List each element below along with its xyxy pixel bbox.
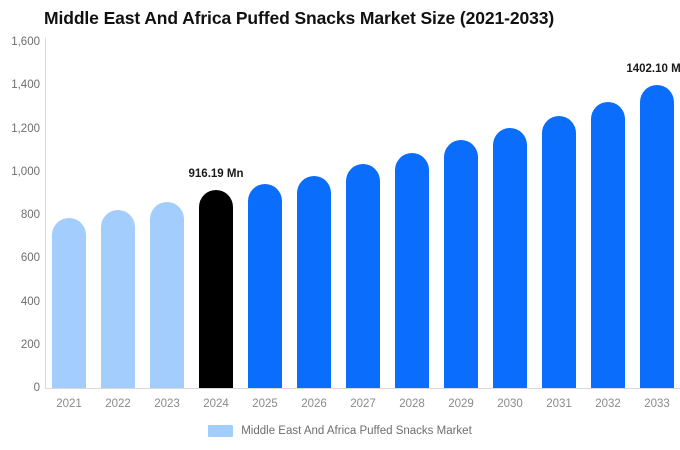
bar-chart: Middle East And Africa Puffed Snacks Mar…: [0, 0, 680, 450]
x-axis-tick-label: 2025: [252, 398, 278, 410]
y-axis: 1,6001,4001,2001,0008006004002000: [0, 0, 40, 450]
bar-column[interactable]: [493, 42, 527, 388]
x-axis-tick-label: 2030: [497, 398, 523, 410]
bar-column[interactable]: [52, 42, 86, 388]
plot-area: [45, 42, 680, 388]
bar-value-label: 916.19 Mn: [189, 168, 244, 180]
x-axis-tick-label: 2033: [644, 398, 670, 410]
chart-title: Middle East And Africa Puffed Snacks Mar…: [44, 8, 554, 29]
y-axis-tick-label: 1,600: [0, 36, 40, 48]
y-axis-tick-label: 1,200: [0, 123, 40, 135]
x-axis-tick-label: 2029: [448, 398, 474, 410]
y-axis-tick-label: 400: [0, 296, 40, 308]
y-axis-tick-label: 0: [0, 382, 40, 394]
bar-2025[interactable]: [248, 184, 282, 388]
bar-2033[interactable]: [640, 85, 674, 388]
y-axis-tick-label: 1,400: [0, 79, 40, 91]
bar-column[interactable]: [150, 42, 184, 388]
bar-2029[interactable]: [444, 140, 478, 388]
bar-2032[interactable]: [591, 102, 625, 388]
bar-column[interactable]: [640, 42, 674, 388]
x-axis-tick-label: 2022: [105, 398, 131, 410]
bar-2023[interactable]: [150, 202, 184, 388]
bar-2026[interactable]: [297, 176, 331, 388]
legend-swatch-icon: [208, 425, 233, 437]
x-axis-tick-label: 2026: [301, 398, 327, 410]
x-axis-tick-label: 2032: [595, 398, 621, 410]
bar-column[interactable]: [395, 42, 429, 388]
bar-2030[interactable]: [493, 128, 527, 388]
y-axis-tick-label: 800: [0, 209, 40, 221]
chart-legend: Middle East And Africa Puffed Snacks Mar…: [0, 425, 680, 437]
x-axis-tick-label: 2023: [154, 398, 180, 410]
x-axis-tick-label: 2024: [203, 398, 229, 410]
bar-2027[interactable]: [346, 164, 380, 388]
bar-column[interactable]: [542, 42, 576, 388]
y-axis-tick-label: 1,000: [0, 166, 40, 178]
bar-2021[interactable]: [52, 218, 86, 388]
x-axis-tick-label: 2028: [399, 398, 425, 410]
bar-2028[interactable]: [395, 153, 429, 388]
x-axis-tick-label: 2031: [546, 398, 572, 410]
bar-column[interactable]: [444, 42, 478, 388]
bar-column[interactable]: [297, 42, 331, 388]
bar-column[interactable]: [199, 42, 233, 388]
y-axis-tick-label: 200: [0, 339, 40, 351]
bar-column[interactable]: [248, 42, 282, 388]
bar-column[interactable]: [101, 42, 135, 388]
y-axis-tick-label: 600: [0, 252, 40, 264]
x-axis-line: [45, 388, 680, 389]
bar-column[interactable]: [346, 42, 380, 388]
legend-label: Middle East And Africa Puffed Snacks Mar…: [241, 425, 472, 437]
bar-2024[interactable]: [199, 190, 233, 388]
bar-column[interactable]: [591, 42, 625, 388]
bar-value-label: 1402.10 Mn: [626, 63, 680, 75]
bar-2031[interactable]: [542, 116, 576, 388]
x-axis-tick-label: 2027: [350, 398, 376, 410]
x-axis-tick-label: 2021: [56, 398, 82, 410]
bar-2022[interactable]: [101, 210, 135, 388]
